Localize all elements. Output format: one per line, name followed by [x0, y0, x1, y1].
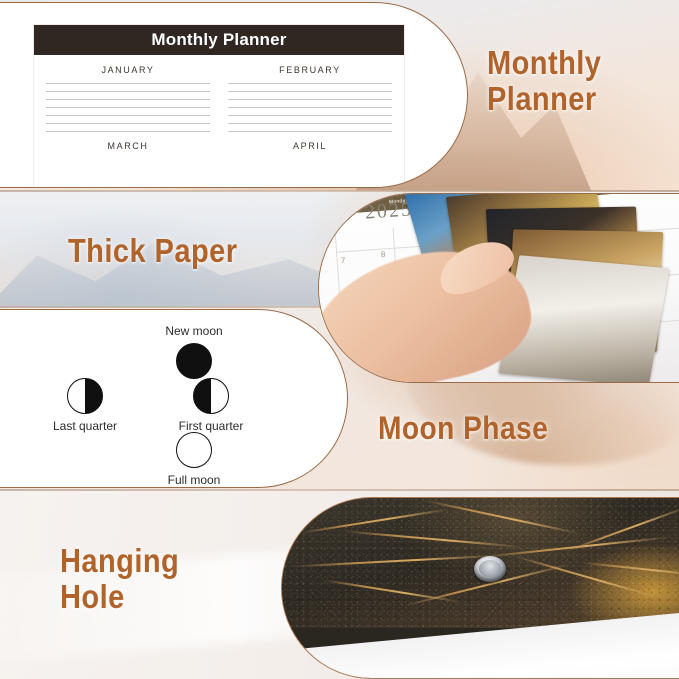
- feature-heading-monthly-planner: Monthly Planner: [487, 45, 617, 116]
- section-divider-1: [0, 190, 679, 192]
- feature-heading-moon-phase: Moon Phase: [378, 410, 571, 447]
- moon-label-first-quarter: First quarter: [151, 419, 271, 433]
- heading-line-2: Hole: [60, 579, 179, 615]
- planner-column-january: JANUARY: [46, 65, 210, 132]
- moon-icon-new-moon: [176, 343, 212, 379]
- moon-phase-full-moon: Full moon: [134, 432, 254, 487]
- planner-column-april: APRIL: [228, 141, 392, 159]
- section-divider-3: [0, 489, 679, 491]
- moon-icon-full-moon: [176, 432, 212, 468]
- moon-label-last-quarter: Last quarter: [25, 419, 145, 433]
- calendar-flipping-photo: Monday Tuesday Wednesday Thursday Friday…: [318, 193, 679, 383]
- moon-label-full-moon: Full moon: [134, 473, 254, 487]
- sand-texture: [282, 498, 679, 628]
- month-label-february: FEBRUARY: [228, 65, 392, 75]
- moon-icon-first-quarter: [193, 378, 229, 414]
- planner-month-row-1: JANUARY FEBRUARY: [34, 55, 404, 132]
- month-label-january: JANUARY: [46, 65, 210, 75]
- planner-title: Monthly Planner: [151, 30, 286, 50]
- calendar-date-8: 8: [381, 250, 386, 259]
- hanging-hole-grommet-icon: [474, 556, 506, 582]
- planner-header-bar: Monthly Planner: [34, 25, 404, 55]
- monthly-planner-panel: Monthly Planner JANUARY FEBRUARY: [0, 2, 468, 188]
- planner-month-row-2: MARCH APRIL: [34, 132, 404, 159]
- hanging-hole-photo: [281, 497, 679, 679]
- ruled-lines-january: [46, 83, 210, 132]
- calendar-date-7: 7: [341, 256, 346, 265]
- planner-column-february: FEBRUARY: [228, 65, 392, 132]
- product-feature-infographic: Monthly Planner JANUARY FEBRUARY: [0, 0, 679, 679]
- heading-line-1: Thick Paper: [68, 232, 237, 270]
- planner-column-march: MARCH: [46, 141, 210, 159]
- month-label-march: MARCH: [46, 141, 210, 151]
- moon-icon-last-quarter: [67, 378, 103, 414]
- moon-phase-first-quarter: First quarter: [151, 378, 271, 433]
- feature-heading-hanging-hole: Hanging Hole: [60, 543, 195, 616]
- moon-label-new-moon: New moon: [134, 324, 254, 338]
- month-label-april: APRIL: [228, 141, 392, 151]
- heading-line-1: Moon Phase: [378, 410, 548, 447]
- moon-phase-panel: New moon Last quarter First quarter Full…: [0, 309, 348, 488]
- heading-line-1: Hanging: [60, 543, 179, 579]
- moon-phase-new-moon: New moon: [134, 324, 254, 379]
- planner-sheet: Monthly Planner JANUARY FEBRUARY: [34, 25, 404, 188]
- feature-heading-thick-paper: Thick Paper: [68, 232, 261, 270]
- hanging-hole-opening: [479, 560, 501, 577]
- moon-phase-last-quarter: Last quarter: [25, 378, 145, 433]
- heading-line-2: Planner: [487, 81, 601, 117]
- heading-line-1: Monthly: [487, 45, 601, 81]
- ruled-lines-february: [228, 83, 392, 132]
